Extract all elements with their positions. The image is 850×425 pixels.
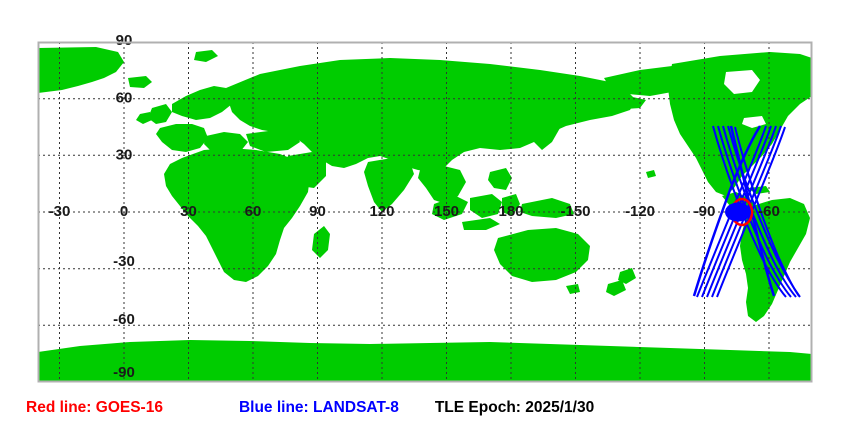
lon-label--30: -30 xyxy=(49,203,71,220)
lon-label--60: -60 xyxy=(758,203,780,220)
figure-legend: Red line: GOES-16 Blue line: LANDSAT-8 T… xyxy=(0,390,850,425)
lon-label-150: 150 xyxy=(434,203,459,220)
legend-goes16: Red line: GOES-16 xyxy=(26,399,163,417)
lon-label--90: -90 xyxy=(694,203,716,220)
world-map-panel: -30 0 30 60 90 120 150 180 -150 -120 -90… xyxy=(0,0,850,390)
lat-label-60: 60 xyxy=(116,90,133,107)
satellite-markers xyxy=(725,203,751,222)
lat-label--60: -60 xyxy=(113,311,135,328)
lon-label-120: 120 xyxy=(369,203,394,220)
lat-label-90: 90 xyxy=(116,32,133,49)
lat-label--30: -30 xyxy=(113,253,135,270)
legend-landsat8: Blue line: LANDSAT-8 xyxy=(239,399,399,417)
lon-label-0: 0 xyxy=(120,203,128,220)
lon-label-90: 90 xyxy=(309,203,326,220)
lon-label-180: 180 xyxy=(498,203,523,220)
lon-label-60: 60 xyxy=(245,203,262,220)
legend-tle-epoch: TLE Epoch: 2025/1/30 xyxy=(435,399,594,417)
lat-label--90: -90 xyxy=(113,364,135,381)
lon-label--150: -150 xyxy=(560,203,590,220)
landsat8-position-marker[interactable] xyxy=(725,203,751,222)
lat-label-30: 30 xyxy=(116,146,133,163)
lon-label-30: 30 xyxy=(180,203,197,220)
world-map-svg: -30 0 30 60 90 120 150 180 -150 -120 -90… xyxy=(0,0,850,390)
lon-label--120: -120 xyxy=(625,203,655,220)
satellite-tracking-figure: -30 0 30 60 90 120 150 180 -150 -120 -90… xyxy=(0,0,850,425)
